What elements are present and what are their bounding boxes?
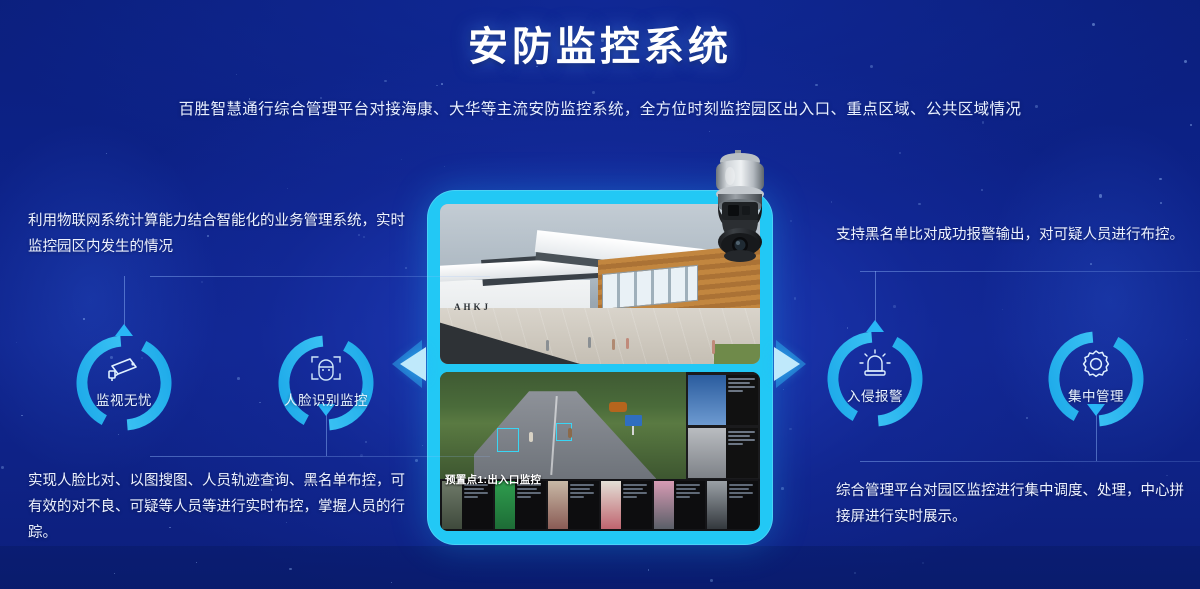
feature-text-bottom-right-body: 综合管理平台对园区监控进行集中调度、处理，中心拼接屏进行实时展示。	[836, 478, 1188, 530]
star-dot	[1, 466, 4, 469]
badge-label: 监视无忧	[58, 389, 190, 409]
capture-card[interactable]	[688, 375, 758, 425]
render-person	[588, 337, 591, 348]
connector-divider-top-right	[860, 271, 1200, 272]
badge-face-recognition[interactable]: 人脸识别监控	[274, 331, 378, 435]
star-dot	[648, 569, 649, 570]
star-dot	[789, 428, 791, 430]
road-pedestrian	[529, 432, 533, 442]
badge-label: 入侵报警	[809, 385, 941, 405]
feature-text-top-right: 支持黑名单比对成功报警输出，对可疑人员进行布控。	[836, 222, 1188, 248]
capture-thumb-item[interactable]	[548, 481, 599, 529]
connector-divider-bottom-left	[150, 456, 490, 457]
star-dot	[237, 377, 240, 380]
star-dot	[899, 152, 901, 154]
capture-thumb-item[interactable]	[495, 481, 546, 529]
capture-thumbnail	[654, 481, 674, 529]
page-title: 安防监控系统	[0, 14, 1200, 72]
siren-alarm-icon	[823, 347, 927, 381]
capture-meta	[674, 481, 705, 529]
star-dot	[415, 459, 418, 462]
capture-meta	[462, 481, 493, 529]
badge-label: 集中管理	[1030, 385, 1162, 405]
ptz-dome-camera-icon	[692, 150, 788, 268]
feature-text-bottom-right: 综合管理平台对园区监控进行集中调度、处理，中心拼接屏进行实时展示。	[836, 478, 1188, 530]
capture-thumbnail	[442, 481, 462, 529]
feature-text-top-left-body: 利用物联网系统计算能力结合智能化的业务管理系统，实时监控园区内发生的情况	[28, 208, 410, 260]
star-dot	[781, 487, 784, 490]
badge-monitor-worry-free[interactable]: 监视无忧	[72, 331, 176, 435]
render-person	[546, 340, 549, 351]
capture-thumbnail	[495, 481, 515, 529]
render-person	[712, 340, 715, 354]
cctv-camera-icon	[72, 351, 176, 385]
building-sign: AHKJ	[454, 302, 491, 312]
road-scene	[440, 372, 686, 479]
feature-text-bottom-left: 实现人脸比对、以图搜图、人员轨迹查询、黑名单布控，可有效的对不良、可疑等人员等进…	[28, 468, 410, 546]
capture-meta	[515, 481, 546, 529]
road-vehicle	[609, 402, 627, 412]
arrow-right-icon	[774, 347, 800, 381]
feature-text-top-right-body: 支持黑名单比对成功报警输出，对可疑人员进行布控。	[836, 222, 1188, 248]
arrow-left-icon	[400, 347, 426, 381]
capture-thumbnail	[688, 375, 726, 425]
render-grass	[714, 344, 760, 364]
road-surveillance-view[interactable]: 预置点1:出入口监控	[440, 372, 760, 531]
detection-box	[497, 428, 519, 452]
capture-thumb-item[interactable]	[654, 481, 705, 529]
capture-meta	[727, 481, 758, 529]
badge-label: 人脸识别监控	[260, 389, 392, 409]
capture-card[interactable]	[688, 428, 758, 478]
capture-meta	[621, 481, 652, 529]
page-subtitle: 百胜智慧通行综合管理平台对接海康、大华等主流安防监控系统，全方位时刻监控园区出入…	[0, 97, 1200, 119]
connector-line-top-right	[875, 271, 876, 325]
connector-divider-top-left	[150, 276, 490, 277]
star-dot	[1190, 124, 1193, 127]
background-bottom-band	[0, 546, 1200, 589]
star-dot	[1026, 417, 1028, 419]
star-dot	[710, 579, 713, 582]
preset-point-label: 预置点1:出入口监控	[445, 472, 541, 487]
road-sign-icon	[625, 415, 642, 426]
star-dot	[1159, 178, 1162, 181]
render-person	[612, 339, 615, 350]
badge-central-management[interactable]: 集中管理	[1044, 327, 1148, 431]
capture-thumbnail	[707, 481, 727, 529]
capture-meta	[726, 375, 758, 425]
feature-text-top-left: 利用物联网系统计算能力结合智能化的业务管理系统，实时监控园区内发生的情况	[28, 208, 410, 260]
connector-divider-bottom-right	[860, 461, 1200, 462]
road-pedestrian	[568, 428, 572, 438]
feature-text-bottom-left-body: 实现人脸比对、以图搜图、人员轨迹查询、黑名单布控，可有效的对不良、可疑等人员等进…	[28, 468, 410, 546]
badge-intrusion-alarm[interactable]: 入侵报警	[823, 327, 927, 431]
connector-line-top-left	[124, 276, 125, 330]
star-dot	[16, 342, 17, 343]
star-dot	[289, 568, 291, 570]
star-dot	[918, 203, 921, 206]
capture-meta	[726, 428, 758, 478]
capture-meta	[568, 481, 599, 529]
capture-thumbnail	[601, 481, 621, 529]
capture-side-column[interactable]	[686, 372, 760, 479]
face-scan-icon	[274, 351, 378, 385]
header: 安防监控系统 百胜智慧通行综合管理平台对接海康、大华等主流安防监控系统，全方位时…	[0, 0, 1200, 119]
star-dot	[83, 318, 85, 320]
render-person	[626, 338, 629, 349]
gear-icon	[1044, 347, 1148, 381]
capture-thumb-item[interactable]	[442, 481, 493, 529]
star-dot	[893, 305, 896, 308]
capture-thumbnail	[548, 481, 568, 529]
capture-thumb-item[interactable]	[707, 481, 758, 529]
star-dot	[1090, 263, 1092, 265]
capture-thumb-item[interactable]	[601, 481, 652, 529]
capture-thumbnail	[688, 428, 726, 478]
